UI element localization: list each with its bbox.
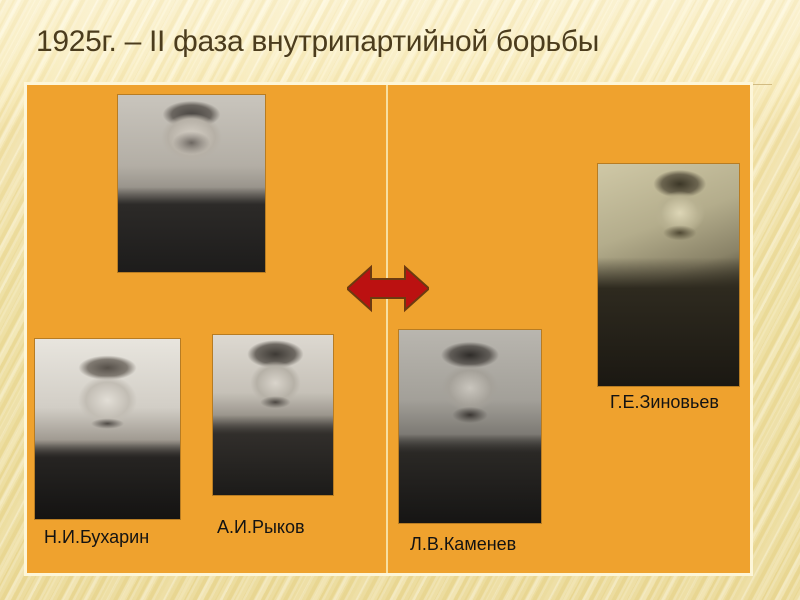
content-panel: Н.И.Бухарин А.И.Рыков Г.Е.Зиновьев Л.В.К… xyxy=(27,85,750,573)
stalin-portrait xyxy=(118,95,265,272)
slide-title: 1925г. – II фаза внутрипартийной борьбы xyxy=(36,22,766,62)
rykov-caption: А.И.Рыков xyxy=(217,516,305,538)
panel-vertical-divider xyxy=(386,85,388,573)
kamenev-caption: Л.В.Каменев xyxy=(410,533,516,555)
zinoviev-portrait xyxy=(598,164,739,386)
slide: 1925г. – II фаза внутрипартийной борьбы … xyxy=(0,0,800,600)
kamenev-portrait xyxy=(399,330,541,523)
rykov-portrait xyxy=(213,335,333,495)
zinoviev-caption: Г.Е.Зиновьев xyxy=(610,391,719,413)
bukharin-caption: Н.И.Бухарин xyxy=(44,526,149,548)
double-headed-arrow-icon xyxy=(347,264,429,313)
bukharin-portrait xyxy=(35,339,180,519)
